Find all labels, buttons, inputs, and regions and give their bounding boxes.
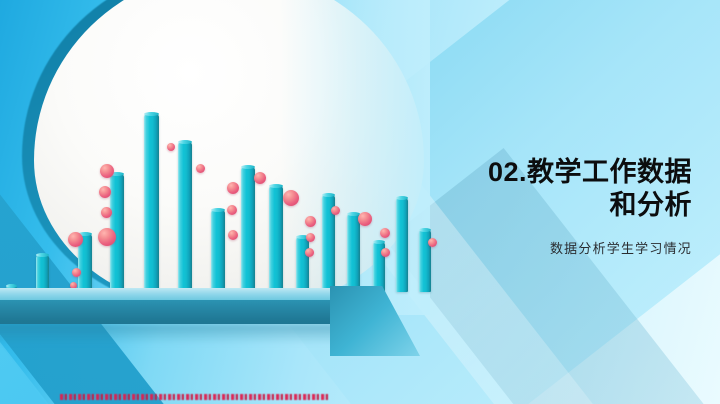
bar-5 (178, 142, 192, 292)
axis-label-strip (60, 394, 328, 400)
bubble-0 (68, 232, 83, 247)
bar-4 (144, 114, 159, 292)
bar-6 (211, 210, 225, 292)
page-subtitle: 数据分析学生学习情况 (272, 238, 692, 257)
bubble-12 (254, 172, 266, 184)
bubble-6 (100, 164, 114, 178)
page-title: 02.教学工作数据和分析 (272, 156, 692, 222)
bubble-5 (99, 186, 111, 198)
bubble-4 (101, 207, 112, 218)
bubble-10 (227, 205, 237, 215)
bubble-11 (228, 230, 238, 240)
platform-front-face (0, 300, 352, 324)
bubble-8 (196, 164, 205, 173)
bubble-3 (98, 228, 116, 246)
slide-canvas: 02.教学工作数据和分析 数据分析学生学习情况 (0, 0, 720, 404)
title-block: 02.教学工作数据和分析 数据分析学生学习情况 (272, 156, 692, 257)
bubble-7 (167, 143, 175, 151)
bubble-9 (227, 182, 239, 194)
platform-shadow (0, 324, 370, 344)
bubble-1 (72, 268, 81, 277)
bar-1 (36, 255, 49, 292)
bar-7 (241, 167, 255, 292)
title-line-2: 和分析 (610, 190, 693, 220)
title-line-1: 02.教学工作数据 (488, 157, 692, 187)
